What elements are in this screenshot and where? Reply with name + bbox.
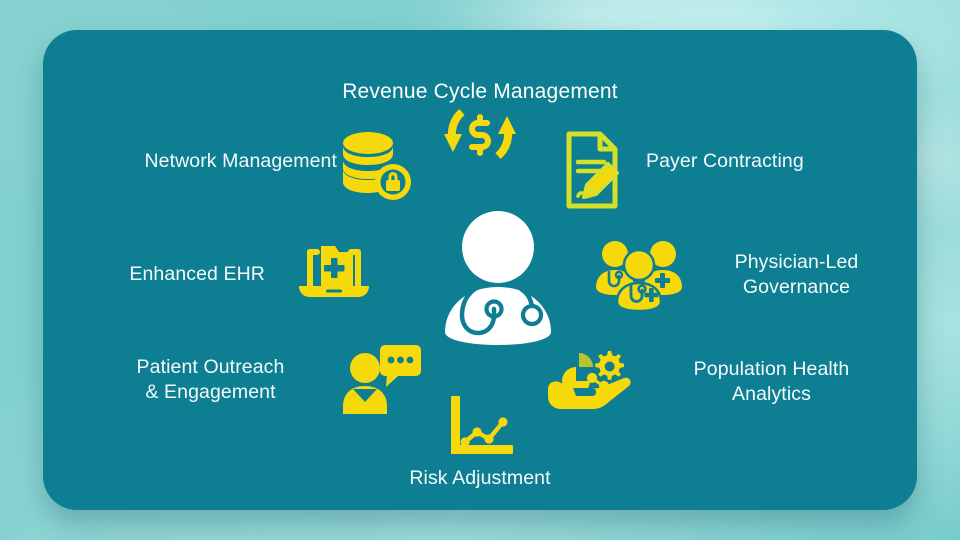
laptop-medical-record-icon	[291, 230, 377, 306]
diagram-card: Revenue Cycle Management Network Managem…	[43, 30, 917, 510]
database-lock-icon	[336, 128, 414, 204]
label-enhanced-ehr: Enhanced EHR	[43, 262, 265, 287]
label-population-health-analytics: Population Health Analytics	[626, 357, 917, 406]
line-chart-icon	[445, 392, 517, 464]
doctor-with-stethoscope-icon	[431, 205, 566, 350]
label-risk-adjustment: Risk Adjustment	[330, 466, 630, 491]
label-payer-contracting: Payer Contracting	[646, 149, 926, 174]
medical-team-group-icon	[595, 234, 683, 310]
label-physician-led-governance: Physician-Led Governance	[676, 250, 917, 299]
person-speech-bubble-icon	[339, 340, 423, 416]
label-patient-outreach-engagement: Patient Outreach & Engagement	[90, 355, 331, 404]
label-network-management: Network Management	[43, 149, 337, 174]
document-signature-pen-icon	[556, 128, 630, 212]
hand-pie-chart-gear-icon	[546, 345, 636, 409]
currency-refresh-cycle-icon	[436, 90, 524, 178]
